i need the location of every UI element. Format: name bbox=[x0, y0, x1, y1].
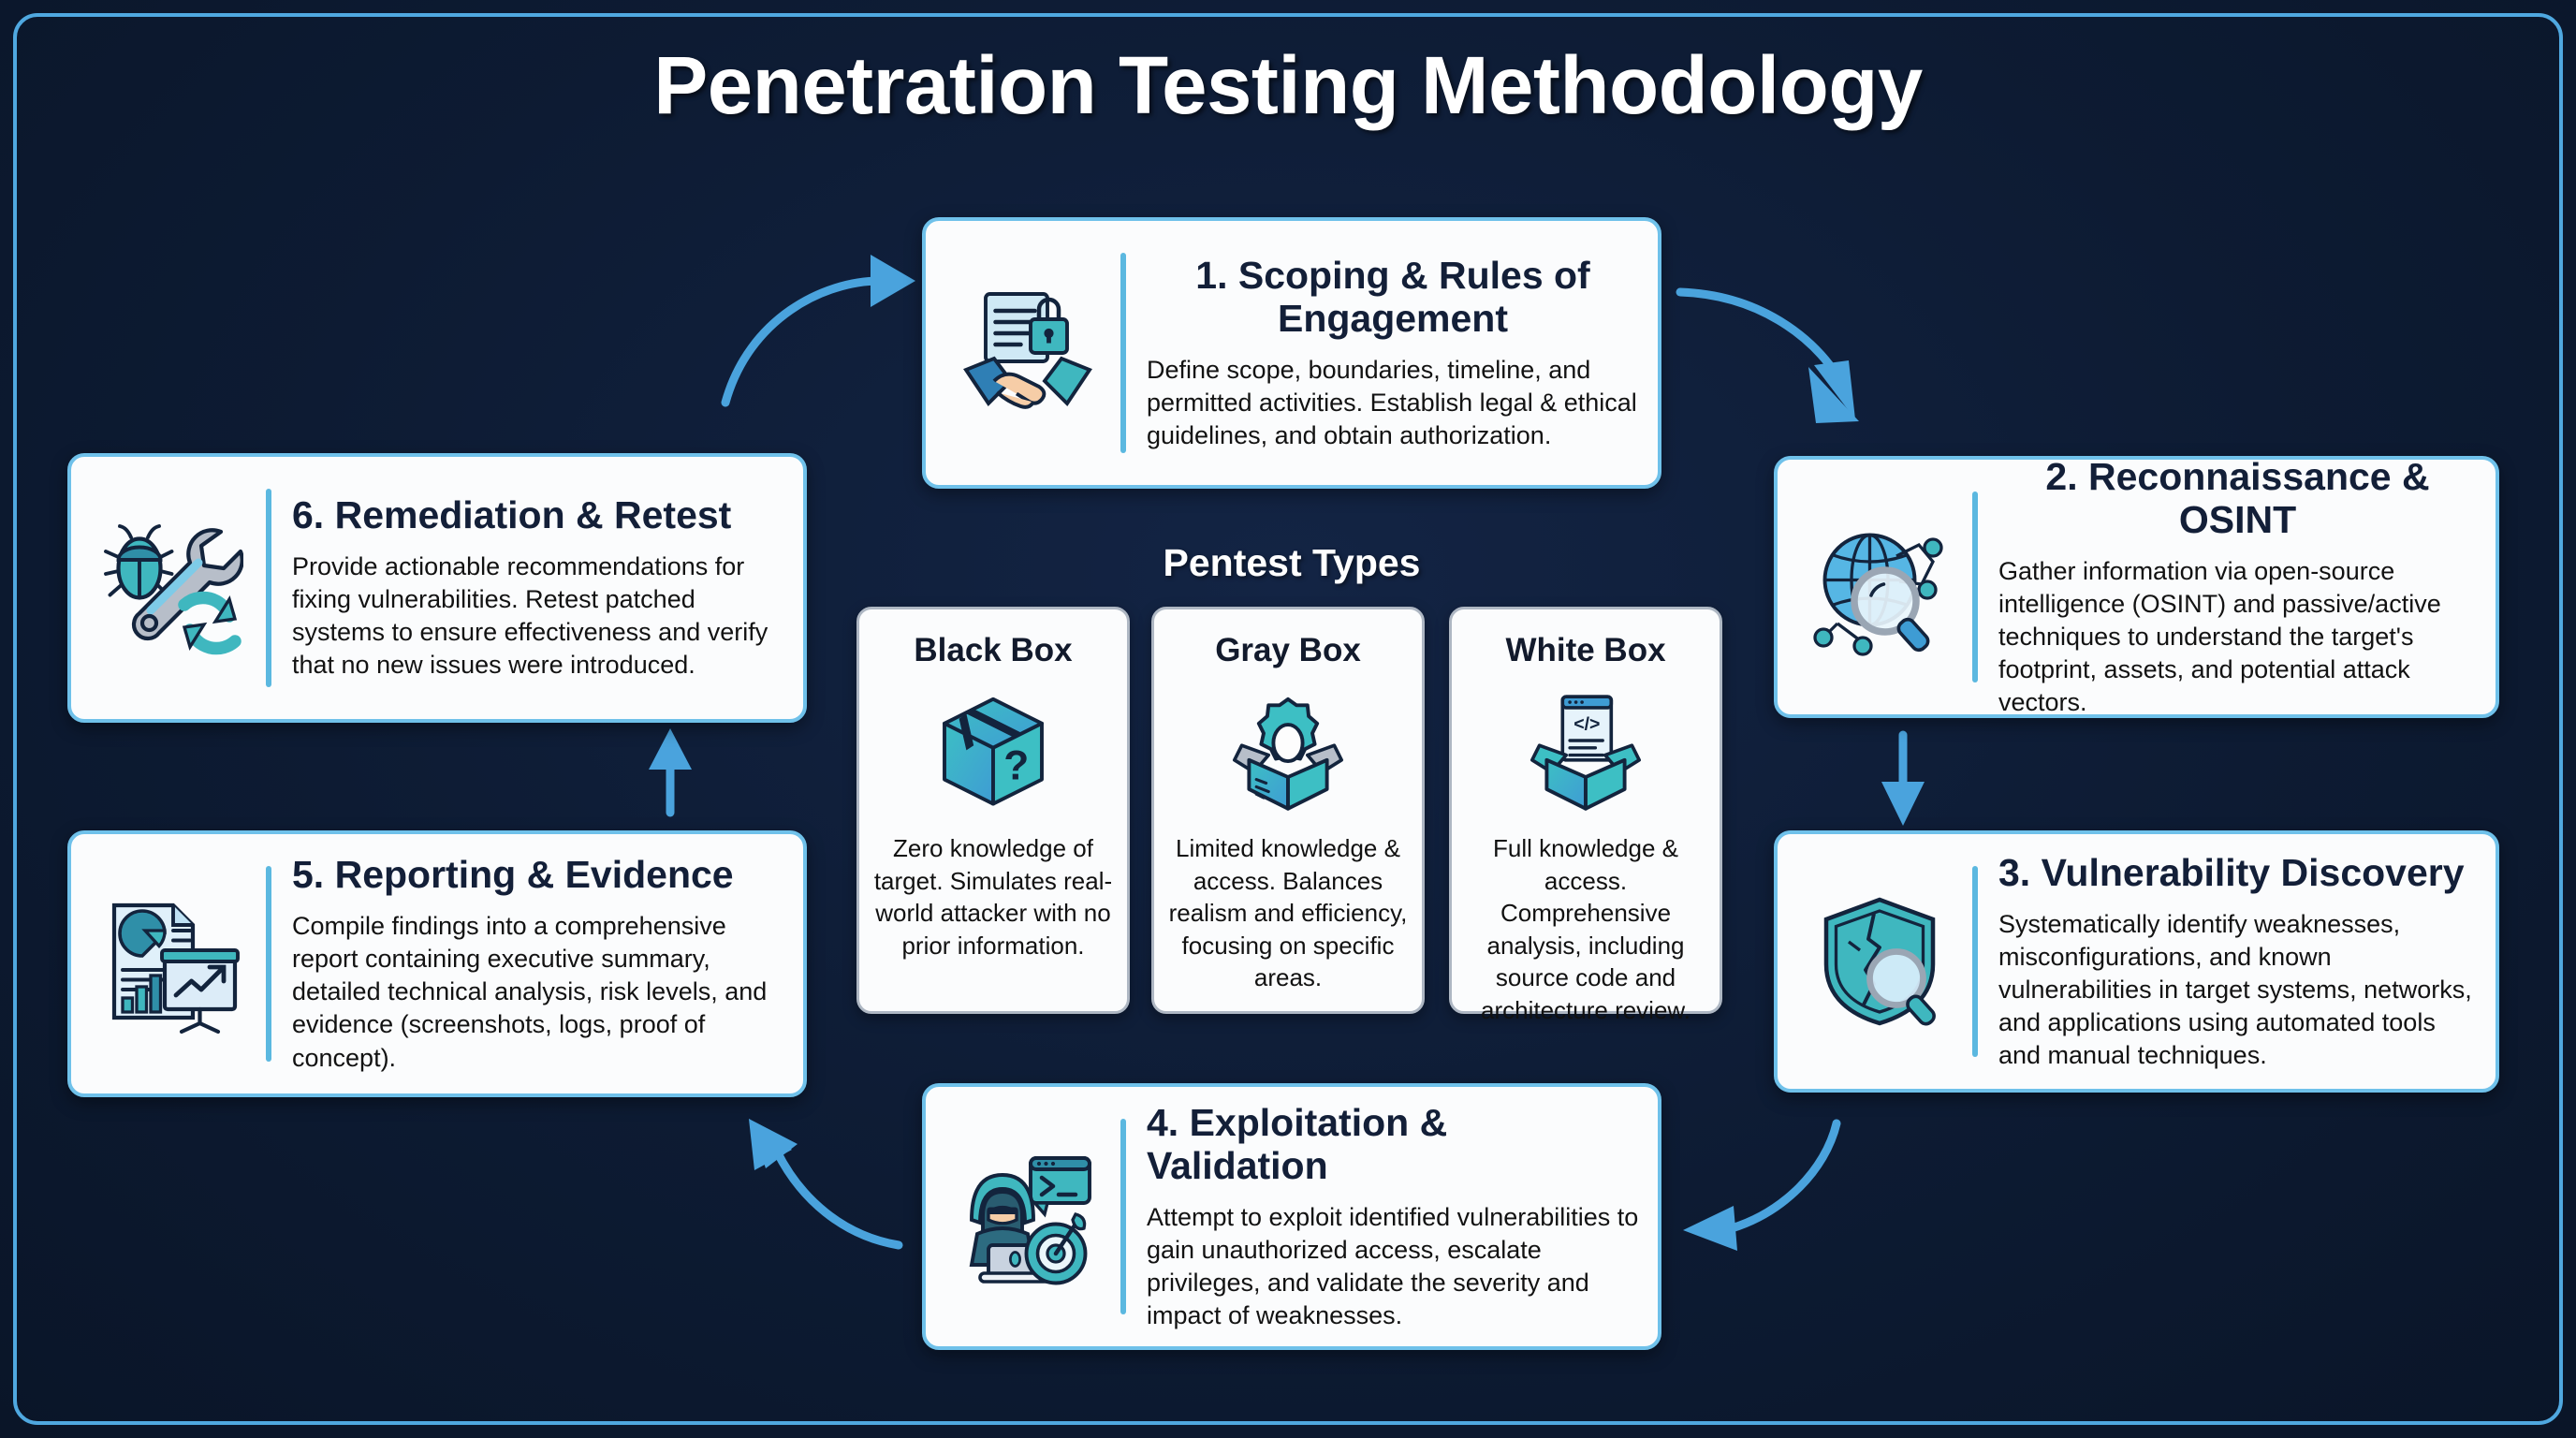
infographic-canvas: Penetration Testing Methodology bbox=[0, 0, 2576, 1438]
accent-bar bbox=[1972, 492, 1978, 682]
closed-box-question-mark-icon: ? bbox=[932, 682, 1054, 823]
step-description: Attempt to exploit identified vulnerabil… bbox=[1147, 1201, 1639, 1332]
pentest-type-card-black-box[interactable]: Black Box ? Zero knowledge of target. Si… bbox=[856, 607, 1130, 1014]
step-card-4[interactable]: 4. Exploitation & Validation Attempt to … bbox=[922, 1083, 1661, 1350]
step-card-2[interactable]: 2. Reconnaissance & OSINT Gather informa… bbox=[1774, 456, 2499, 718]
arrow-step6-to-step1 bbox=[725, 255, 915, 403]
bug-wrench-refresh-icon bbox=[84, 518, 262, 658]
report-chart-presentation-icon bbox=[84, 894, 262, 1034]
step-title: 2. Reconnaissance & OSINT bbox=[1998, 455, 2477, 542]
step-title: 4. Exploitation & Validation bbox=[1147, 1101, 1639, 1188]
step-description: Define scope, boundaries, timeline, and … bbox=[1147, 354, 1639, 452]
cracked-shield-magnifier-icon bbox=[1791, 891, 1969, 1032]
document-lock-handshake-icon bbox=[939, 283, 1117, 423]
step-title: 6. Remediation & Retest bbox=[292, 493, 784, 537]
accent-bar bbox=[266, 866, 271, 1062]
step-title: 5. Reporting & Evidence bbox=[292, 853, 784, 897]
svg-text:?: ? bbox=[1003, 743, 1029, 789]
step-description: Systematically identify weaknesses, misc… bbox=[1998, 908, 2477, 1072]
step-card-5[interactable]: 5. Reporting & Evidence Compile findings… bbox=[67, 830, 807, 1097]
globe-magnifier-network-icon bbox=[1791, 517, 1969, 657]
step-card-1[interactable]: 1. Scoping & Rules of Engagement Define … bbox=[922, 217, 1661, 489]
step-card-6[interactable]: 6. Remediation & Retest Provide actionab… bbox=[67, 453, 807, 723]
type-title: White Box bbox=[1505, 632, 1665, 669]
arrow-step4-to-step5 bbox=[749, 1119, 899, 1245]
pentest-type-card-gray-box[interactable]: Gray Box Limited knowledge & access. bbox=[1151, 607, 1425, 1014]
accent-bar bbox=[1972, 866, 1978, 1057]
arrow-step2-to-step3 bbox=[1881, 735, 1925, 826]
step-description: Gather information via open-source intel… bbox=[1998, 555, 2477, 719]
accent-bar bbox=[266, 489, 271, 687]
step-title: 3. Vulnerability Discovery bbox=[1998, 851, 2477, 895]
step-card-3[interactable]: 3. Vulnerability Discovery Systematicall… bbox=[1774, 830, 2499, 1093]
type-description: Full knowledge & access. Comprehensive a… bbox=[1463, 832, 1708, 1026]
pentest-type-card-white-box[interactable]: White Box </> Full bbox=[1449, 607, 1722, 1014]
step-title: 1. Scoping & Rules of Engagement bbox=[1147, 254, 1639, 341]
arrow-step3-to-step4 bbox=[1683, 1123, 1837, 1251]
type-description: Limited knowledge & access. Balances rea… bbox=[1165, 832, 1411, 994]
accent-bar bbox=[1120, 1119, 1126, 1314]
step-description: Compile findings into a comprehensive re… bbox=[292, 910, 784, 1074]
svg-text:</>: </> bbox=[1573, 713, 1600, 734]
arrow-step5-to-step6 bbox=[649, 728, 692, 813]
type-title: Black Box bbox=[914, 632, 1072, 669]
page-title: Penetration Testing Methodology bbox=[0, 39, 2576, 133]
arrow-step1-to-step2 bbox=[1680, 292, 1859, 423]
open-box-source-code-icon: </> bbox=[1525, 682, 1647, 823]
type-title: Gray Box bbox=[1215, 632, 1361, 669]
pentest-types-heading: Pentest Types bbox=[1011, 541, 1573, 585]
type-description: Zero knowledge of target. Simulates real… bbox=[871, 832, 1116, 961]
hacker-laptop-terminal-target-icon bbox=[939, 1147, 1117, 1287]
open-box-gear-icon bbox=[1227, 682, 1349, 823]
step-description: Provide actionable recommendations for f… bbox=[292, 550, 784, 682]
accent-bar bbox=[1120, 253, 1126, 453]
